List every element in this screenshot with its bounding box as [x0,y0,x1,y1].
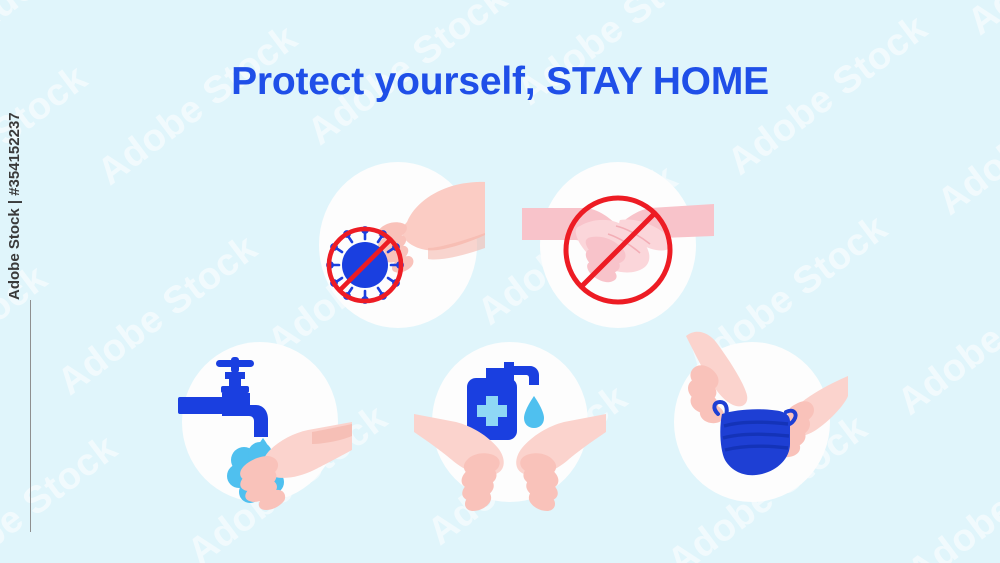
illustration-canvas: Adobe Stock Adobe Stock Adobe Stock Adob… [0,0,1000,563]
wash-hands-illustration [172,340,352,515]
watermark-text: Adobe Stock [890,247,1000,424]
watermark-text: Adobe Stock [0,0,176,44]
avoid-touching-virus-illustration [310,160,485,335]
watermark-text: Adobe Stock [90,17,306,194]
stock-credit-label: Adobe Stock | #354152237 [6,112,23,300]
watermark-text: Adobe Stock [170,0,386,4]
wear-mask-illustration [662,340,842,515]
watermark-text: Adobe Stock [960,0,1000,44]
panel-wash-hands [172,340,352,515]
watermark-text: Adobe Stock [900,417,1000,563]
hand-sanitizer-illustration [420,340,600,515]
panel-wear-mask [662,340,842,515]
virus-icon [327,227,402,302]
avoid-handshake-illustration [528,160,708,335]
credit-divider [30,300,31,532]
watermark-text: Adobe Stock [0,427,126,563]
panel-avoid-touching-virus [310,160,485,335]
panel-avoid-handshake [528,160,708,335]
panel-hand-sanitizer [420,340,600,515]
page-title: Protect yourself, STAY HOME [0,60,1000,104]
